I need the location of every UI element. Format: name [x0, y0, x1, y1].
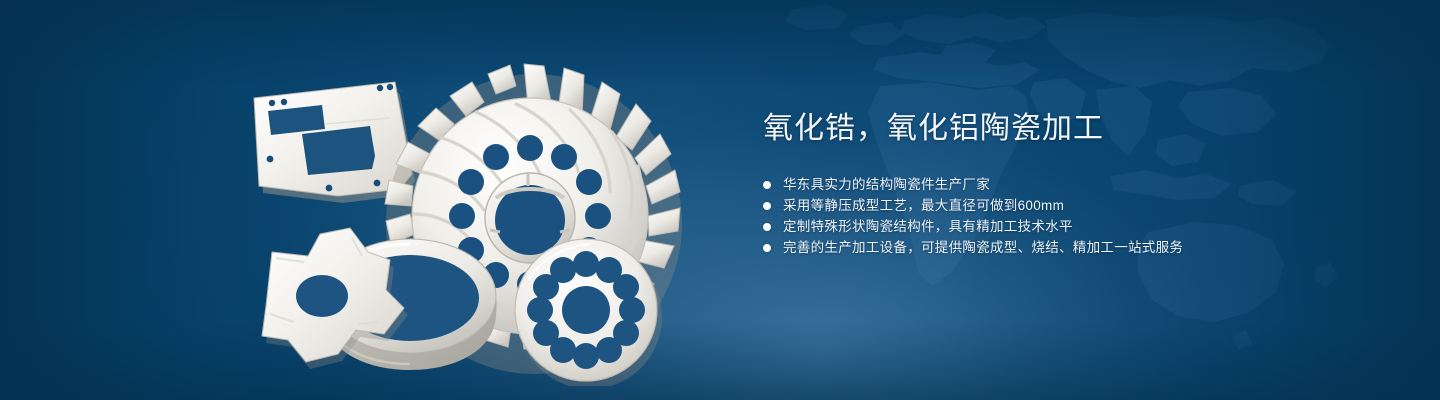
list-item: 华东具实力的结构陶瓷件生产厂家 [763, 174, 1383, 195]
banner-text-column: 氧化锆，氧化铝陶瓷加工 华东具实力的结构陶瓷件生产厂家 采用等静压成型工艺，最大… [763, 108, 1383, 258]
bullet-dot-icon [763, 244, 771, 252]
bullet-dot-icon [763, 181, 771, 189]
list-item: 完善的生产加工设备，可提供陶瓷成型、烧结、精加工一站式服务 [763, 237, 1383, 258]
feature-text: 华东具实力的结构陶瓷件生产厂家 [783, 174, 990, 195]
list-item: 采用等静压成型工艺，最大直径可做到600mm [763, 195, 1383, 216]
banner-headline: 氧化锆，氧化铝陶瓷加工 [763, 108, 1383, 150]
feature-text: 采用等静压成型工艺，最大直径可做到600mm [783, 195, 1064, 216]
bullet-dot-icon [763, 223, 771, 231]
ceramic-products-image [230, 38, 690, 386]
bullet-dot-icon [763, 202, 771, 210]
feature-text: 完善的生产加工设备，可提供陶瓷成型、烧结、精加工一站式服务 [783, 237, 1183, 258]
feature-text: 定制特殊形状陶瓷结构件，具有精加工技术水平 [783, 216, 1073, 237]
hero-banner: 氧化锆，氧化铝陶瓷加工 华东具实力的结构陶瓷件生产厂家 采用等静压成型工艺，最大… [0, 0, 1440, 400]
banner-feature-list: 华东具实力的结构陶瓷件生产厂家 采用等静压成型工艺，最大直径可做到600mm 定… [763, 174, 1383, 258]
list-item: 定制特殊形状陶瓷结构件，具有精加工技术水平 [763, 216, 1383, 237]
